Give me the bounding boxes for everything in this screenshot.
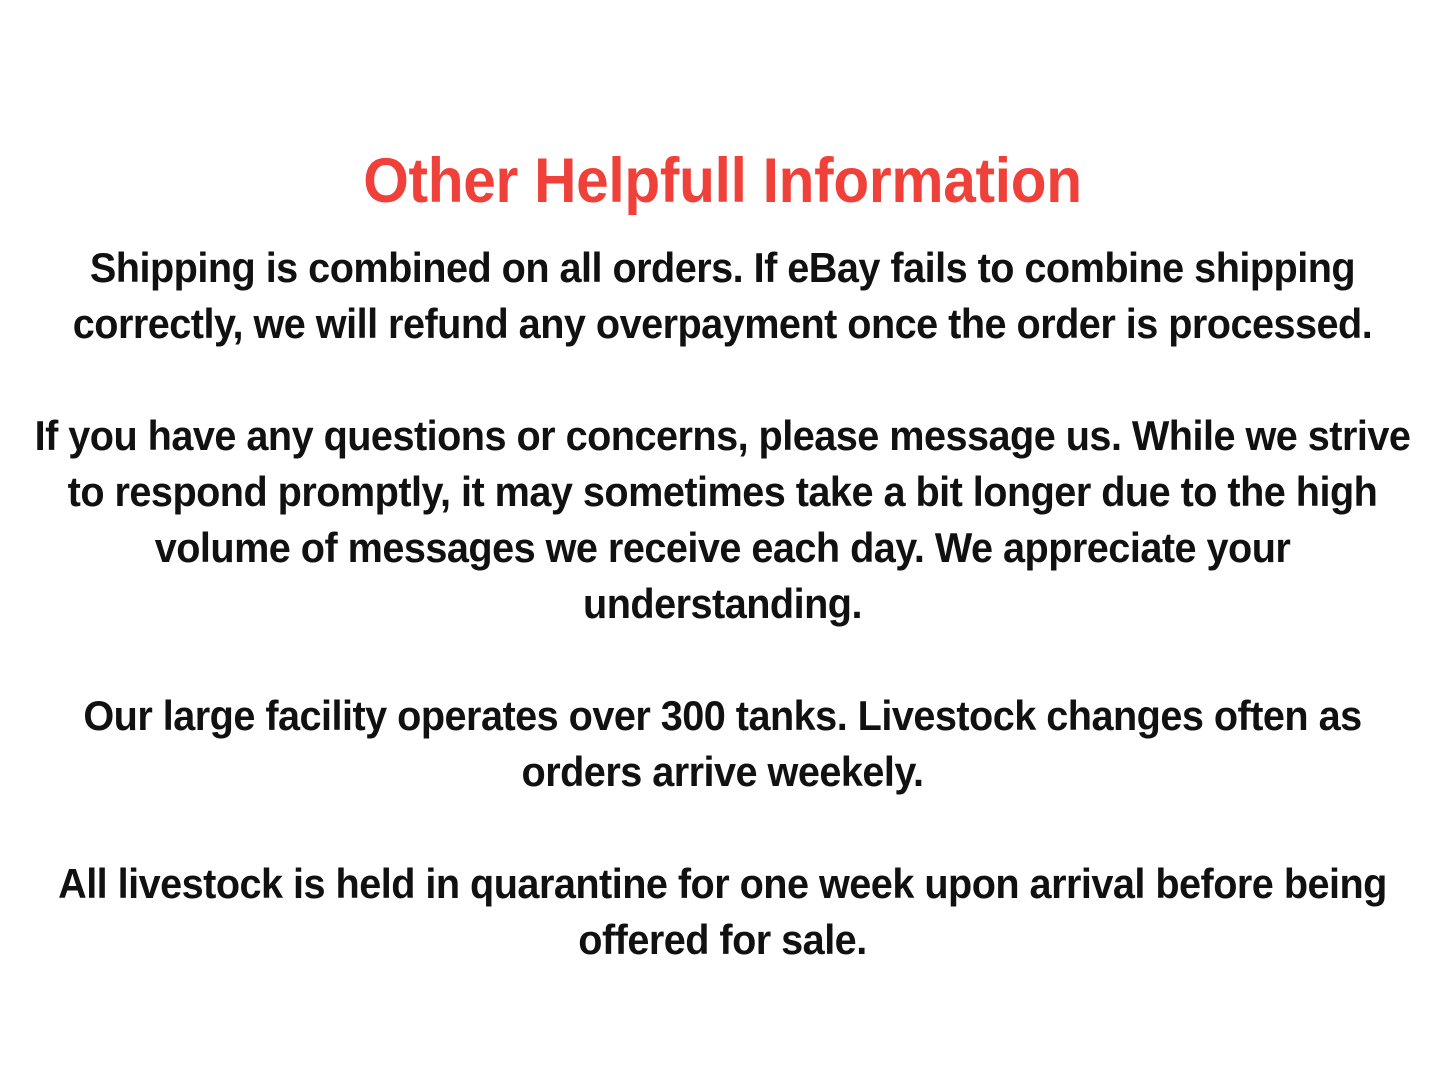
paragraph-contact-response-time: If you have any questions or concerns, p… xyxy=(34,408,1410,632)
information-body: Shipping is combined on all orders. If e… xyxy=(0,240,1445,968)
paragraph-quarantine-policy: All livestock is held in quarantine for … xyxy=(34,856,1410,968)
paragraph-shipping-policy: Shipping is combined on all orders. If e… xyxy=(34,240,1410,352)
page-title: Other Helpfull Information xyxy=(51,145,1395,217)
other-helpful-information-card: Other Helpfull Information Shipping is c… xyxy=(0,0,1445,1084)
paragraph-facility-stock: Our large facility operates over 300 tan… xyxy=(34,688,1410,800)
